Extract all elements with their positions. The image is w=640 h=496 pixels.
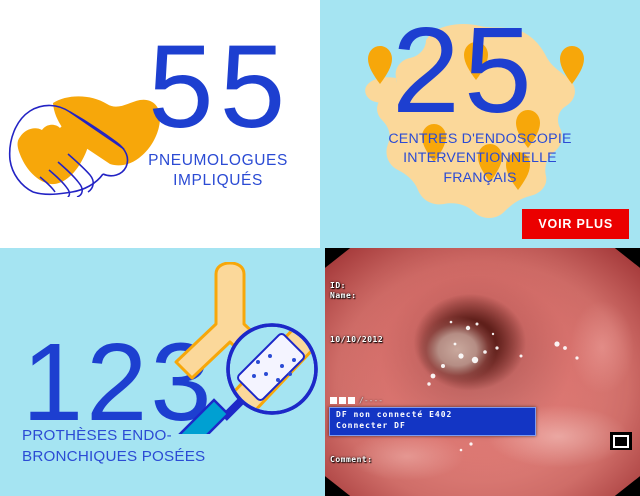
osd-block-1 xyxy=(330,397,337,404)
infographic-board: 55 PNEUMOLOGUES IMPLIQUÉS 25 CENTR xyxy=(0,0,640,496)
video-osd-name: Name: xyxy=(330,291,357,300)
bronchus-magnifier-icon xyxy=(172,262,318,434)
centres-label-line1: CENTRES D'ENDOSCOPIE xyxy=(330,130,630,149)
voir-plus-button[interactable]: VOIR PLUS xyxy=(522,209,629,239)
centres-label-group: CENTRES D'ENDOSCOPIE INTERVENTIONNELLE F… xyxy=(330,130,630,188)
video-record-indicator-icon xyxy=(610,432,632,450)
centres-label-line3: FRANÇAIS xyxy=(330,169,630,188)
osd-block-2 xyxy=(339,397,346,404)
panel-endoscopy-video[interactable]: ID: Name: 10/10/2012 /---- DF non connec… xyxy=(320,248,640,496)
video-osd-indicator-blocks: /---- xyxy=(330,396,383,405)
pneumologues-label-line1: PNEUMOLOGUES xyxy=(118,151,318,171)
panel-pneumologues: 55 PNEUMOLOGUES IMPLIQUÉS xyxy=(0,0,320,248)
video-osd-dialog: DF non connecté E402 Connecter DF xyxy=(329,407,536,436)
centres-label-line2: INTERVENTIONNELLE xyxy=(330,149,630,168)
video-osd-id: ID: xyxy=(330,281,346,290)
centres-count: 25 xyxy=(392,9,536,131)
osd-dashes: /---- xyxy=(359,396,383,405)
pneumologues-label-line2: IMPLIQUÉS xyxy=(118,171,318,191)
panel-centres: 25 CENTRES D'ENDOSCOPIE INTERVENTIONNELL… xyxy=(320,0,640,248)
video-osd-dialog-line1: DF non connecté E402 xyxy=(336,410,532,421)
panel-protheses: 123 PROTHÈSES ENDO- BRONCHIQUES POSÉES xyxy=(0,248,320,496)
endoscopy-video-frame[interactable]: ID: Name: 10/10/2012 /---- DF non connec… xyxy=(325,248,640,496)
pneumologues-label-group: PNEUMOLOGUES IMPLIQUÉS xyxy=(118,151,318,192)
video-osd-dialog-line2: Connecter DF xyxy=(336,421,532,432)
video-osd-date: 10/10/2012 xyxy=(330,335,383,344)
protheses-label-line2: BRONCHIQUES POSÉES xyxy=(22,447,236,468)
osd-block-3 xyxy=(348,397,355,404)
pneumologues-count: 55 xyxy=(148,28,291,146)
video-osd-comment: Comment: xyxy=(330,455,373,464)
